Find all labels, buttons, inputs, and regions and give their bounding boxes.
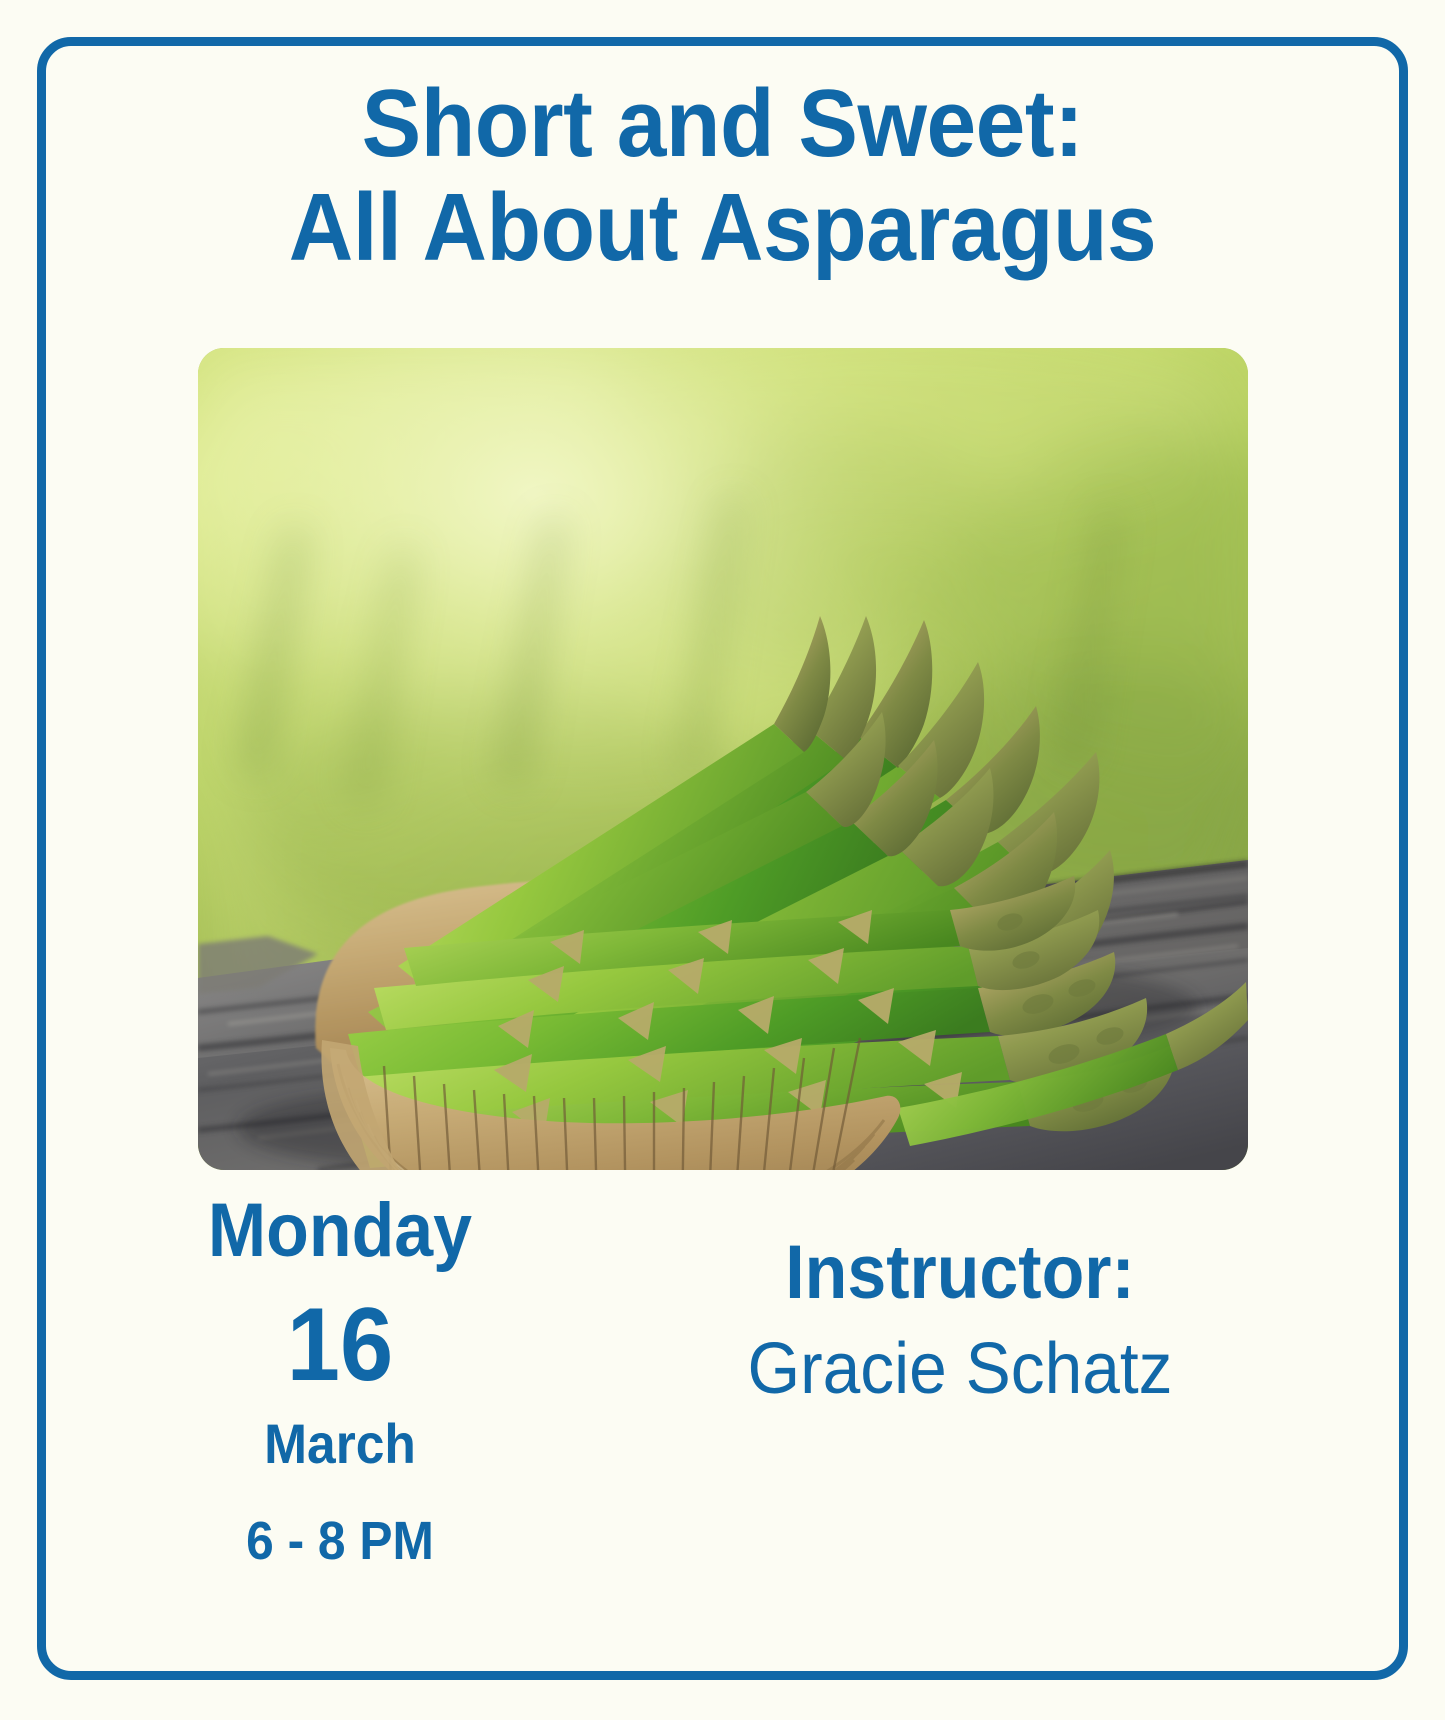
asparagus-photo [198,348,1248,1170]
event-month: March [156,1414,524,1474]
event-date-block: Monday 16 March 6 - 8 PM [140,1190,540,1570]
instructor-label: Instructor: [638,1232,1282,1314]
event-day-number: 16 [156,1290,524,1400]
page-title: Short and Sweet: All About Asparagus [100,72,1345,280]
event-weekday: Monday [156,1190,524,1272]
event-details: Monday 16 March 6 - 8 PM Instructor: Gra… [80,1190,1370,1620]
title-line-2: All About Asparagus [144,176,1302,280]
instructor-name: Gracie Schatz [631,1330,1289,1408]
asparagus-photo-illustration [198,348,1248,1170]
event-poster: Short and Sweet: All About Asparagus [0,0,1445,1720]
instructor-block: Instructor: Gracie Schatz [610,1232,1310,1408]
title-line-1: Short and Sweet: [144,72,1302,176]
event-time-range: 6 - 8 PM [156,1512,524,1570]
